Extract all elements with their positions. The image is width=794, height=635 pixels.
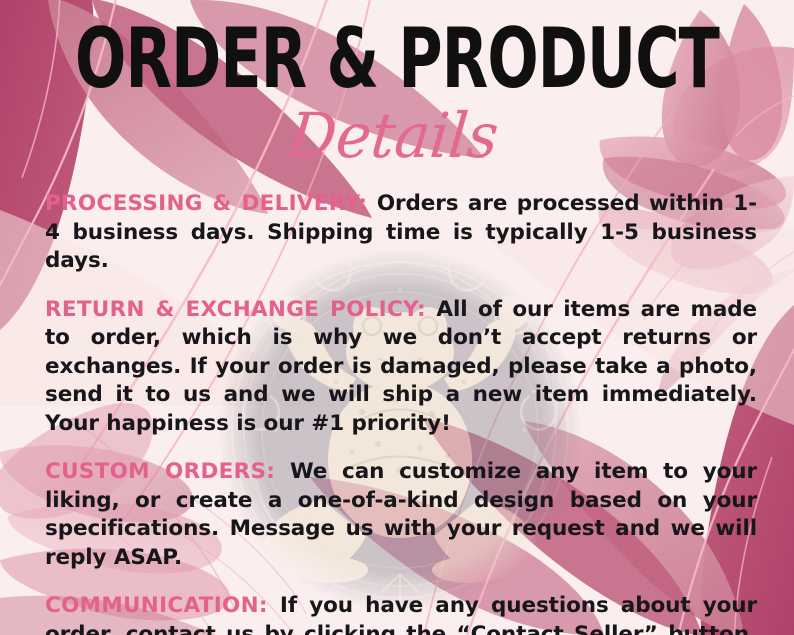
section-heading-processing-delivery: PROCESSING & DELIVERY: bbox=[45, 191, 367, 216]
section-heading-custom-orders: CUSTOM ORDERS: bbox=[45, 459, 275, 484]
section-heading-return-exchange-policy: RETURN & EXCHANGE POLICY: bbox=[45, 297, 426, 322]
section-communication: COMMUNICATION: If you have any questions… bbox=[45, 592, 757, 635]
section-heading-communication: COMMUNICATION: bbox=[45, 593, 268, 618]
section-return-exchange-policy: RETURN & EXCHANGE POLICY: All of our ite… bbox=[45, 296, 757, 439]
section-custom-orders: CUSTOM ORDERS: We can customize any item… bbox=[45, 458, 757, 572]
order-product-details-card: ORDER & PRODUCT Details PROCESSING & DEL… bbox=[0, 0, 794, 635]
page-subtitle: Details bbox=[13, 103, 774, 169]
content-layer: ORDER & PRODUCT Details PROCESSING & DEL… bbox=[0, 0, 794, 635]
section-processing-delivery: PROCESSING & DELIVERY: Orders are proces… bbox=[45, 190, 757, 276]
policy-sections: PROCESSING & DELIVERY: Orders are proces… bbox=[45, 190, 757, 635]
page-title: ORDER & PRODUCT bbox=[56, 18, 739, 101]
